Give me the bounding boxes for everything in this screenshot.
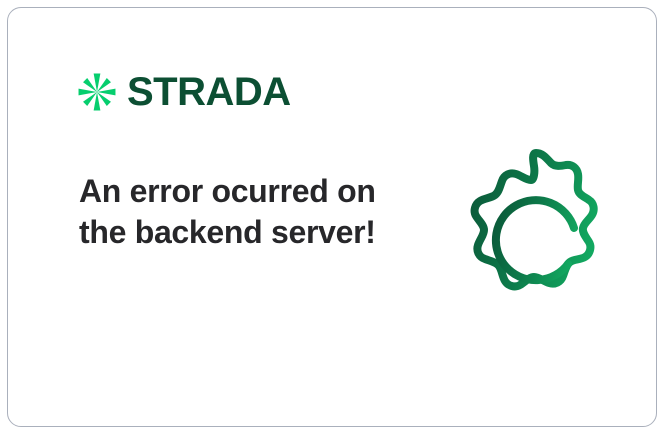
error-card: STRADA An error ocurred on the backend s…	[7, 7, 657, 427]
error-message-text: An error ocurred on the backend server!	[79, 171, 379, 253]
brand-wordmark: STRADA	[127, 72, 291, 112]
gear-inner-arc	[496, 200, 574, 280]
brand-lockup: STRADA	[76, 71, 291, 113]
strada-asterisk-logo-mark	[76, 71, 118, 113]
gear-cog-illustration	[450, 142, 622, 317]
gear-outer-ring	[475, 153, 594, 286]
